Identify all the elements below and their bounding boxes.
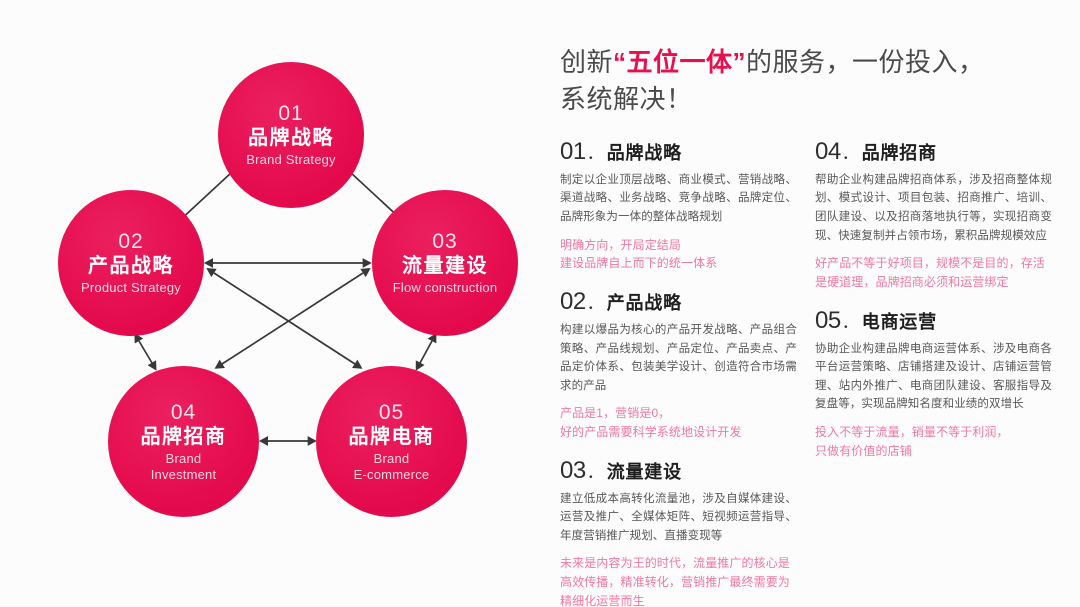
section-number: 01 (560, 140, 586, 164)
section-separator: ． (842, 145, 859, 162)
node-number: 02 (118, 230, 143, 253)
section-number: 05 (815, 309, 841, 333)
node-number: 01 (278, 102, 303, 125)
section-body: 帮助企业构建品牌招商体系，涉及招商整体规划、模式设计、项目包装、招商推广、培训、… (815, 171, 1052, 246)
section-separator: ． (587, 464, 604, 481)
section-separator: ． (842, 314, 859, 331)
node-title-en-line2: Investment (151, 467, 217, 482)
section-body: 制定以企业顶层战略、商业模式、营销战略、渠道战略、业务战略、竞争战略、品牌定位、… (560, 171, 797, 227)
section-05: 05 ． 电商运营 协助企业构建品牌电商运营体系、涉及电商各平台运营策略、店铺搭… (815, 309, 1052, 461)
section-title: 电商运营 (862, 313, 937, 331)
connector-03-05 (420, 341, 432, 363)
node-number: 03 (432, 230, 457, 253)
connector-02-05 (214, 273, 355, 364)
sections-column-right: 04 ． 品牌招商 帮助企业构建品牌招商体系，涉及招商整体规划、模式设计、项目包… (815, 140, 1052, 607)
diagram-node-01[interactable]: 01 品牌战略 Brand Strategy (218, 62, 364, 208)
headline-before: 创新 (560, 47, 613, 77)
section-02: 02 ． 产品战略 构建以爆品为核心的产品开发战略、产品组合策略、产品线规划、产… (560, 290, 797, 442)
diagram-node-05[interactable]: 05 品牌电商 Brand E-commerce (316, 366, 467, 517)
section-title: 品牌招商 (862, 144, 937, 162)
section-note: 好产品不等于好项目，规模不是目的，存活是硬道理，品牌招商必须和运营绑定 (815, 254, 1052, 291)
section-number: 03 (560, 459, 586, 483)
headline-after: 的服务，一份投入， (746, 47, 985, 77)
section-title: 流量建设 (607, 463, 682, 481)
node-title-cn: 流量建设 (402, 254, 488, 278)
section-number: 02 (560, 290, 586, 314)
node-number: 04 (171, 401, 196, 424)
section-heading: 04 ． 品牌招商 (815, 140, 1052, 164)
headline-accent: “五位一体” (613, 47, 746, 77)
page-headline: 创新“五位一体”的服务，一份投入，系统解决！ (556, 44, 1066, 118)
node-title-en-line2: E-commerce (354, 467, 430, 482)
node-title-en: Flow construction (393, 280, 498, 295)
node-number: 05 (379, 401, 404, 424)
section-title: 品牌战略 (607, 144, 682, 162)
section-heading: 03 ． 流量建设 (560, 459, 797, 483)
node-title-cn: 品牌招商 (141, 425, 227, 449)
section-title: 产品战略 (607, 294, 682, 312)
node-title-cn: 品牌战略 (248, 126, 334, 150)
node-title-en-line1: Brand (374, 451, 410, 466)
section-01: 01 ． 品牌战略 制定以企业顶层战略、商业模式、营销战略、渠道战略、业务战略、… (560, 140, 797, 273)
section-note: 投入不等于流量，销量不等于利润， 只做有价值的店铺 (815, 423, 1052, 460)
sections-columns: 01 ． 品牌战略 制定以企业顶层战略、商业模式、营销战略、渠道战略、业务战略、… (556, 140, 1066, 607)
node-title-en-line1: Brand (166, 451, 202, 466)
section-heading: 05 ． 电商运营 (815, 309, 1052, 333)
diagram-node-02[interactable]: 02 产品战略 Product Strategy (58, 190, 204, 336)
section-note: 明确方向，开局定结局 建设品牌自上而下的统一体系 (560, 236, 797, 273)
section-body: 建立低成本高转化流量池，涉及自媒体建设、运营及推广、全媒体矩阵、短视频运营指导、… (560, 490, 797, 546)
node-title-cn: 产品战略 (88, 254, 174, 278)
section-separator: ． (587, 295, 604, 312)
section-number: 04 (815, 140, 841, 164)
diagram-panel: 01 品牌战略 Brand Strategy 02 产品战略 Product S… (0, 0, 540, 607)
section-note: 产品是1，营销是0， 好的产品需要科学系统地设计开发 (560, 404, 797, 441)
section-heading: 02 ． 产品战略 (560, 290, 797, 314)
connector-02-04 (139, 341, 152, 363)
node-title-en: Brand Strategy (246, 152, 336, 167)
section-note: 未来是内容为王的时代，流量推广的核心是高效传播，精准转化，营销推广最终需要为精细… (560, 554, 797, 607)
node-title-cn: 品牌电商 (349, 425, 435, 449)
connector-03-04 (222, 273, 363, 364)
section-body: 构建以爆品为核心的产品开发战略、产品组合策略、产品线规划、产品定位、产品卖点、产… (560, 321, 797, 396)
sections-column-left: 01 ． 品牌战略 制定以企业顶层战略、商业模式、营销战略、渠道战略、业务战略、… (560, 140, 797, 607)
node-title-en: Product Strategy (81, 280, 181, 295)
headline-line2: 系统解决！ (560, 84, 693, 114)
section-04: 04 ． 品牌招商 帮助企业构建品牌招商体系，涉及招商整体规划、模式设计、项目包… (815, 140, 1052, 292)
diagram-node-04[interactable]: 04 品牌招商 Brand Investment (108, 366, 259, 517)
section-03: 03 ． 流量建设 建立低成本高转化流量池，涉及自媒体建设、运营及推广、全媒体矩… (560, 459, 797, 607)
section-body: 协助企业构建品牌电商运营体系、涉及电商各平台运营策略、店铺搭建及设计、店铺运营管… (815, 340, 1052, 415)
section-heading: 01 ． 品牌战略 (560, 140, 797, 164)
diagram-node-03[interactable]: 03 流量建设 Flow construction (372, 190, 518, 336)
section-separator: ． (587, 145, 604, 162)
content-panel: 创新“五位一体”的服务，一份投入，系统解决！ 01 ． 品牌战略 制定以企业顶层… (548, 0, 1080, 607)
